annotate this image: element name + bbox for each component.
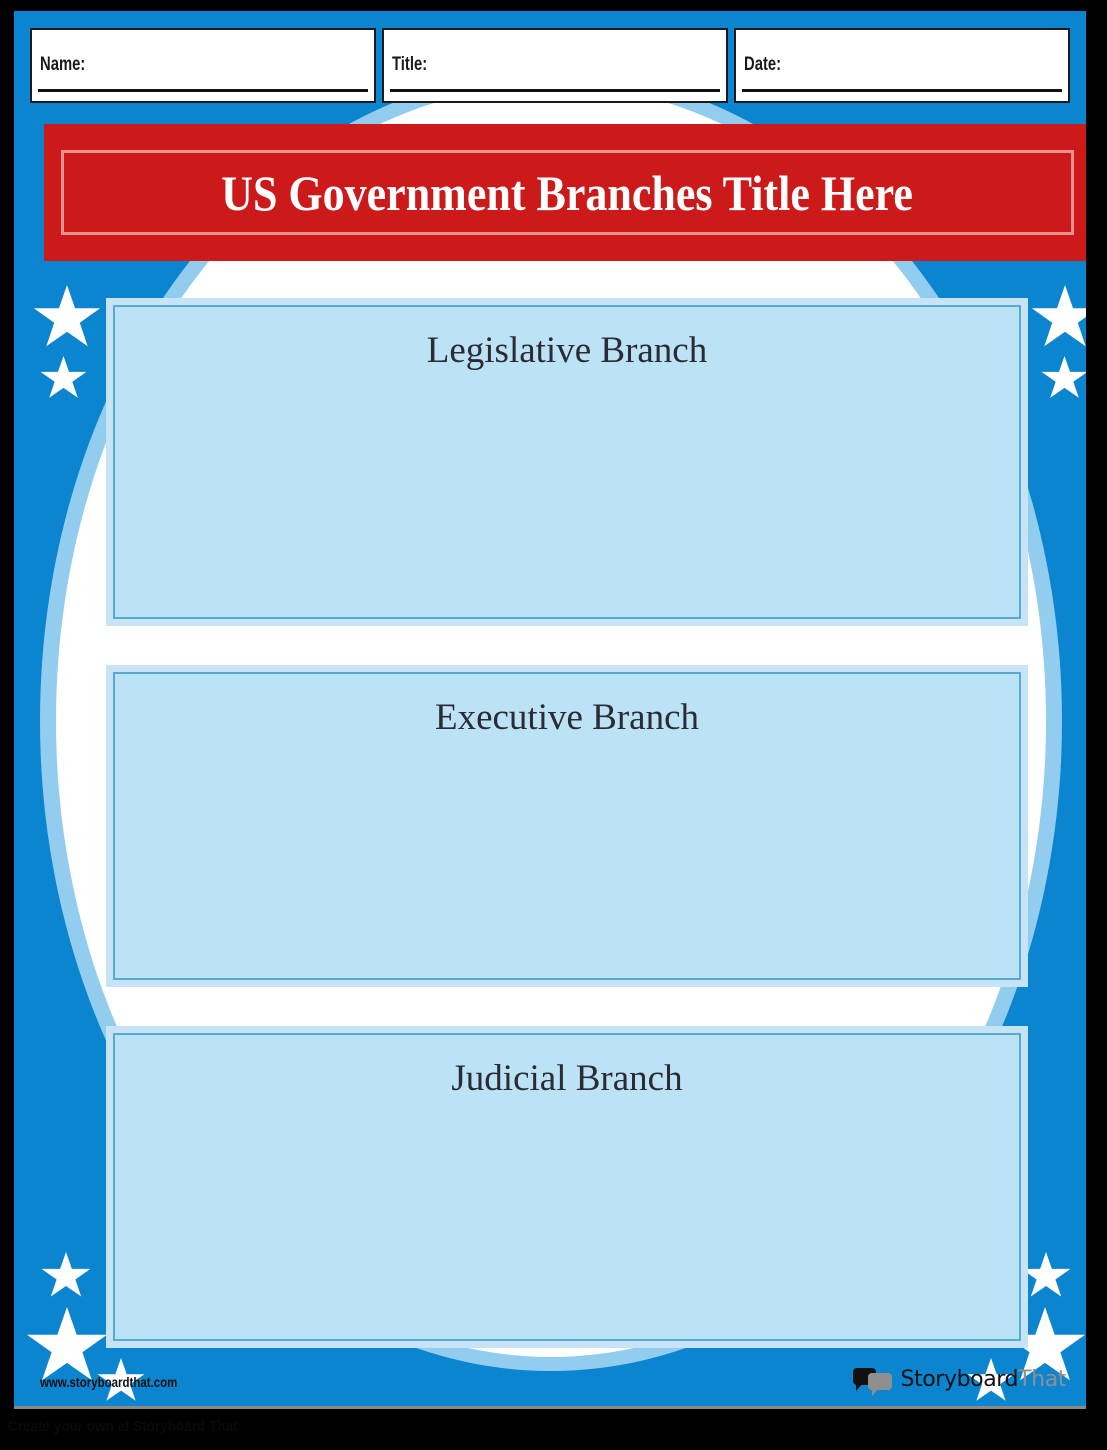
logo-wordmark-primary: Storyboard xyxy=(900,1367,1018,1392)
page-bottom-rule xyxy=(14,1406,1086,1409)
date-field-label: Date: xyxy=(744,54,781,76)
website-url[interactable]: www.storyboardthat.com xyxy=(40,1374,177,1390)
worksheet-title: US Government Branches Title Here xyxy=(222,168,914,218)
header-fields-row: Name: Title: Date: xyxy=(30,28,1070,103)
title-field[interactable]: Title: xyxy=(382,28,728,103)
star-icon xyxy=(1041,356,1086,401)
title-field-label: Title: xyxy=(392,54,427,76)
branch-box-judicial[interactable]: Judicial Branch xyxy=(106,1026,1028,1348)
storyboardthat-logo[interactable]: StoryboardThat xyxy=(853,1366,1066,1392)
branch-label-judicial: Judicial Branch xyxy=(113,1033,1021,1100)
speech-bubble-icon xyxy=(853,1366,893,1392)
star-icon xyxy=(1031,285,1086,351)
star-icon xyxy=(41,1252,91,1300)
logo-wordmark: StoryboardThat xyxy=(900,1367,1066,1392)
title-banner-inner-border: US Government Branches Title Here xyxy=(61,150,1074,235)
star-icon xyxy=(33,285,101,351)
star-icon xyxy=(1021,1252,1071,1300)
logo-wordmark-secondary: That xyxy=(1018,1367,1066,1392)
poster-canvas: Name: Title: Date: US Government Branche… xyxy=(14,11,1086,1406)
star-icon xyxy=(40,356,87,401)
date-field[interactable]: Date: xyxy=(734,28,1070,103)
date-field-rule xyxy=(742,89,1062,92)
title-field-rule xyxy=(390,89,720,92)
branch-boxes-container: Legislative Branch Executive Branch Judi… xyxy=(106,298,1028,1348)
name-field[interactable]: Name: xyxy=(30,28,376,103)
create-your-own-caption: Create your own at Storyboard That xyxy=(8,1418,238,1435)
worksheet-page: Name: Title: Date: US Government Branche… xyxy=(0,0,1107,1450)
name-field-label: Name: xyxy=(40,54,85,76)
name-field-rule xyxy=(38,89,368,92)
branch-label-legislative: Legislative Branch xyxy=(113,305,1021,372)
branch-box-legislative[interactable]: Legislative Branch xyxy=(106,298,1028,626)
title-banner[interactable]: US Government Branches Title Here xyxy=(44,124,1086,261)
branch-label-executive: Executive Branch xyxy=(113,672,1021,739)
branch-box-executive[interactable]: Executive Branch xyxy=(106,665,1028,987)
